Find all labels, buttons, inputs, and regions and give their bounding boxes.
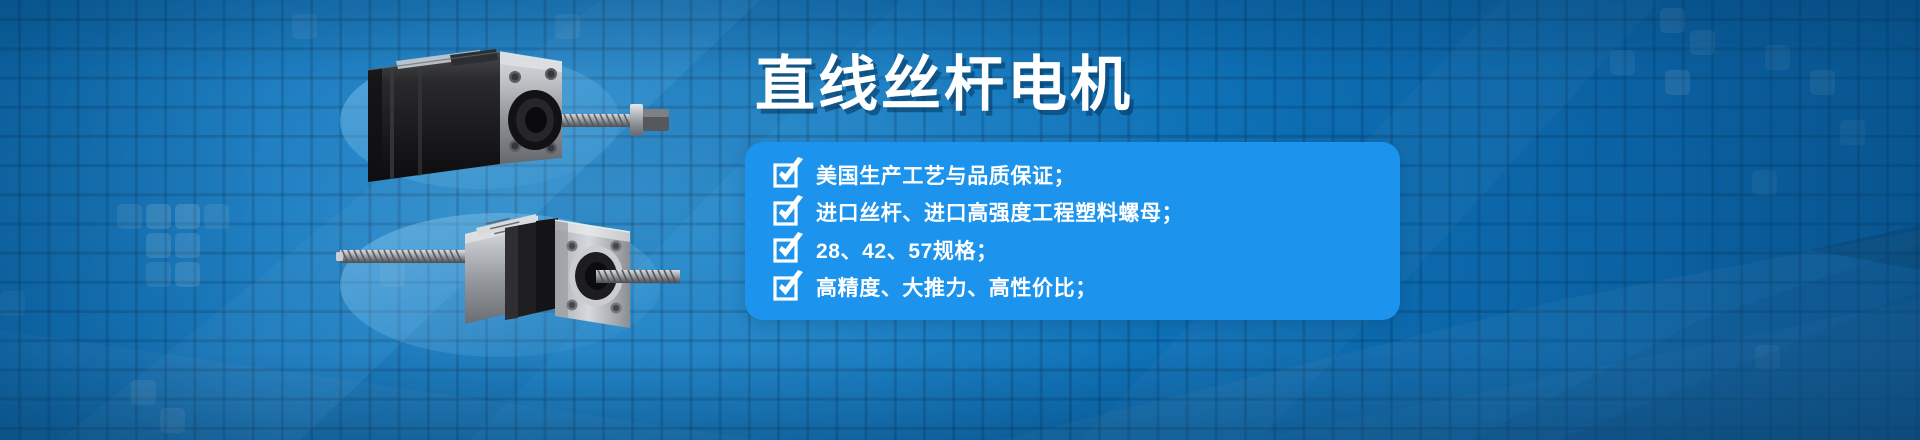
feature-item-3: 28、42、57规格； bbox=[745, 231, 1400, 269]
page-title: 直线丝杆电机 bbox=[755, 55, 1133, 115]
checkbox-checked-icon bbox=[774, 200, 799, 225]
feature-item-4: 高精度、大推力、高性价比； bbox=[745, 269, 1400, 307]
feature-item-2: 进口丝杆、进口高强度工程塑料螺母； bbox=[745, 194, 1400, 232]
checkbox-checked-icon bbox=[774, 275, 799, 300]
feature-panel: 美国生产工艺与品质保证； 进口丝杆、进口高强度工程塑料螺母； 28、42、57规… bbox=[745, 142, 1400, 320]
checkbox-checked-icon bbox=[774, 162, 799, 187]
promo-banner: 直线丝杆电机 美国生产工艺与品质保证； 进口丝杆、进口高强度工程塑料螺母； bbox=[0, 0, 1920, 440]
checkbox-checked-icon bbox=[774, 237, 799, 262]
feature-text: 进口丝杆、进口高强度工程塑料螺母； bbox=[816, 197, 1183, 227]
feature-item-1: 美国生产工艺与品质保证； bbox=[745, 156, 1400, 194]
feature-text: 28、42、57规格； bbox=[816, 235, 998, 265]
feature-text: 高精度、大推力、高性价比； bbox=[816, 272, 1097, 302]
feature-text: 美国生产工艺与品质保证； bbox=[816, 160, 1075, 190]
